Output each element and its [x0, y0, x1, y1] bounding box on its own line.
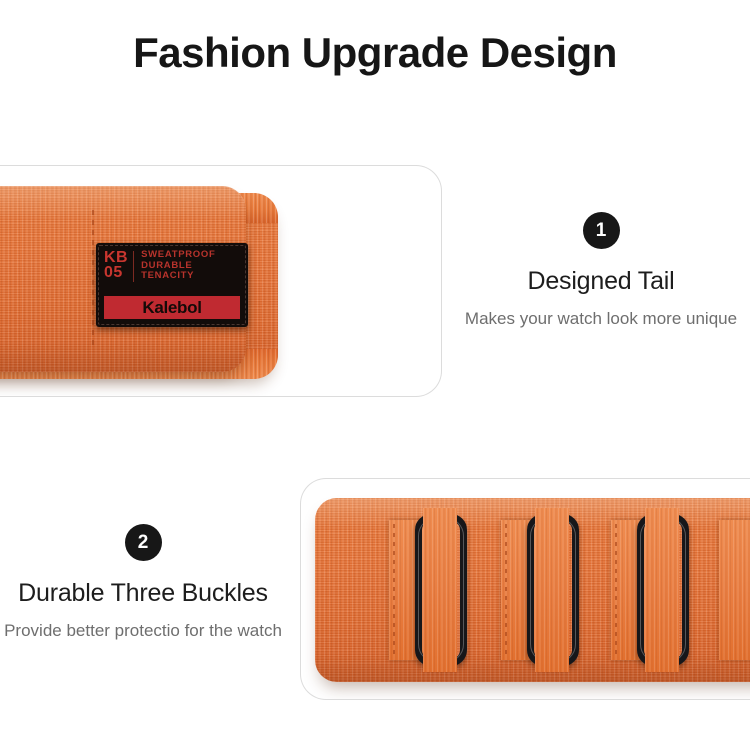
stitch-column-1 — [393, 524, 395, 656]
label-code: KB 05 — [104, 250, 128, 280]
strap-highlight-top — [0, 186, 246, 220]
label-feature-3: TENACITY — [141, 271, 215, 282]
label-top-row: KB 05 SWEATPROOF DURABLE TENACITY — [104, 250, 240, 282]
stitch-line-right — [92, 210, 94, 348]
photo-card-three-buckles — [300, 478, 750, 700]
feature-title-2: Durable Three Buckles — [0, 578, 286, 609]
label-brand-name: Kalebol — [142, 299, 201, 316]
feature-description-2: Provide better protectio for the watch — [0, 619, 286, 644]
buckle-webbing-pass-1 — [423, 508, 457, 672]
feature-callout-2: 2 Durable Three Buckles Provide better p… — [0, 524, 286, 644]
label-feature-lines: SWEATPROOF DURABLE TENACITY — [141, 250, 215, 282]
buckle-webbing-pass-2 — [535, 508, 569, 672]
brand-label-patch: KB 05 SWEATPROOF DURABLE TENACITY Kalebo… — [96, 243, 248, 327]
stitch-column-5 — [615, 524, 617, 656]
feature-badge-2: 2 — [125, 524, 162, 561]
label-feature-1: SWEATPROOF — [141, 250, 215, 261]
keeper-sleeve-4 — [719, 520, 750, 660]
label-code-number: 05 — [104, 265, 128, 280]
strap-shadow-bottom — [0, 342, 246, 372]
feature-description-1: Makes your watch look more unique — [452, 307, 750, 332]
page-title: Fashion Upgrade Design — [0, 28, 750, 78]
buckle-webbing-pass-3 — [645, 508, 679, 672]
label-divider — [133, 251, 134, 282]
feature-badge-1: 1 — [583, 212, 620, 249]
label-code-letters: KB — [104, 250, 128, 265]
feature-title-1: Designed Tail — [452, 266, 750, 297]
strap-buckle-photo — [315, 498, 750, 682]
feature-callout-1: 1 Designed Tail Makes your watch look mo… — [452, 212, 750, 332]
stitch-column-3 — [505, 524, 507, 656]
label-brand-box: Kalebol — [104, 296, 240, 319]
